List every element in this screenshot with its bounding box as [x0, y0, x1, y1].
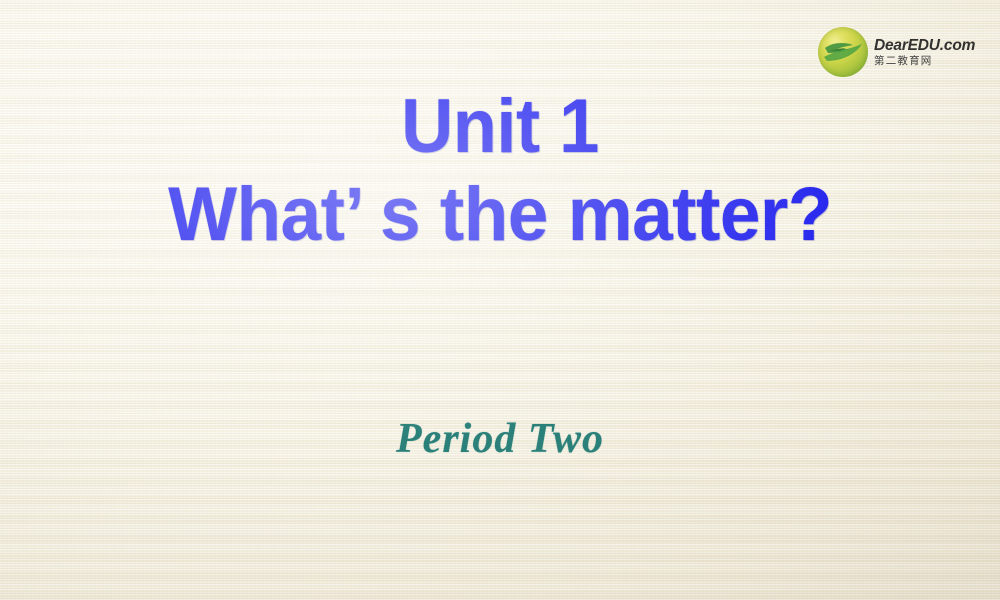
dearedu-brand-name-cn: 第二教育网: [874, 56, 975, 67]
slide-subtitle-block: Period Two: [0, 415, 1000, 463]
dearedu-logo-text: DearEDU.com 第二教育网: [874, 38, 975, 67]
slide-subtitle: Period Two: [396, 416, 604, 462]
dearedu-logo: DearEDU.com 第二教育网: [818, 26, 988, 78]
slide-title-line-1: Unit 1: [25, 88, 975, 166]
slide-title-block: Unit 1 What’ s the matter?: [0, 88, 1000, 253]
presentation-slide: DearEDU.com 第二教育网 Unit 1 What’ s the mat…: [0, 0, 1000, 600]
dearedu-brand-name: DearEDU.com: [874, 38, 975, 54]
dearedu-leaf-circle-icon: [818, 27, 868, 77]
slide-title-line-2: What’ s the matter?: [20, 176, 980, 254]
